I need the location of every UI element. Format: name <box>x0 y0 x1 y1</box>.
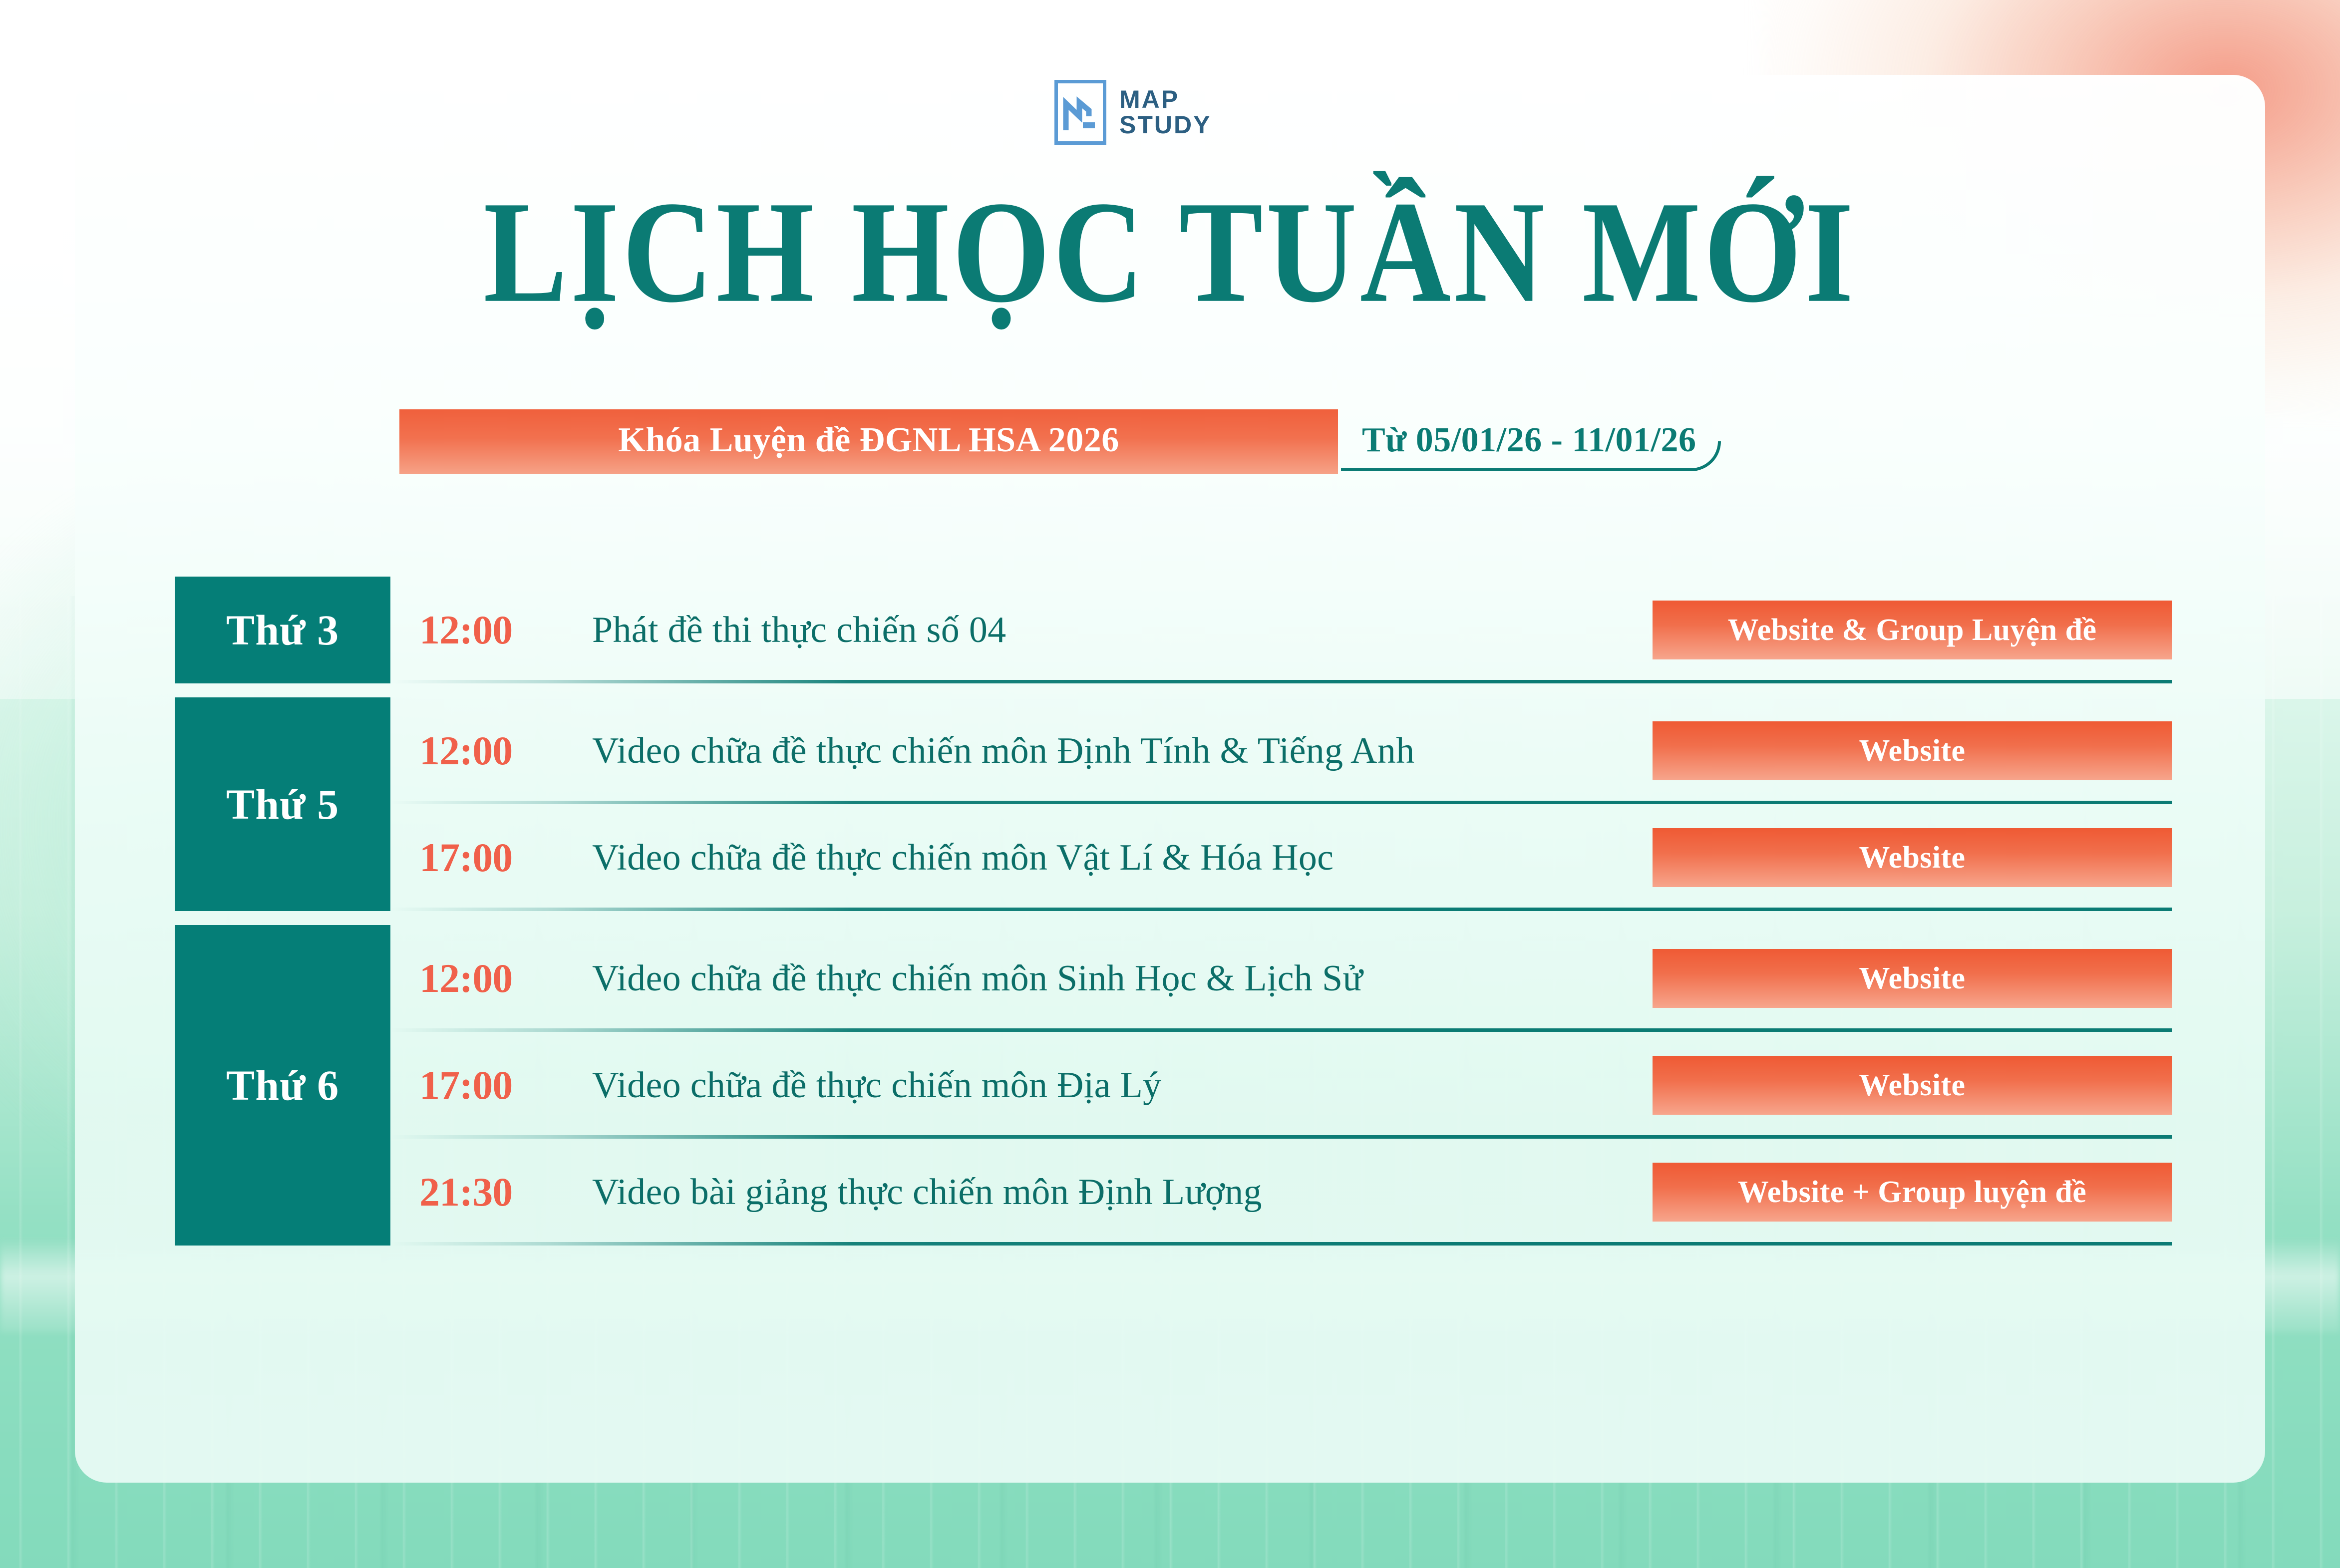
header-subrow: Khóa Luyện đề ĐGNL HSA 2026 Từ 05/01/26 … <box>399 409 1716 474</box>
date-range: Từ 05/01/26 - 11/01/26 <box>1362 420 1696 460</box>
row-rule <box>390 801 2172 804</box>
row-channel-tag[interactable]: Website + Group luyện đề <box>1653 1163 2172 1222</box>
course-badge: Khóa Luyện đề ĐGNL HSA 2026 <box>399 409 1338 474</box>
day-block: Thứ 312:00Phát đề thi thực chiến số 04We… <box>175 577 2172 683</box>
day-block: Thứ 512:00Video chữa đề thực chiến môn Đ… <box>175 697 2172 911</box>
schedule-row: 21:30Video bài giảng thực chiến môn Định… <box>390 1139 2172 1246</box>
row-time: 12:00 <box>419 955 569 1002</box>
row-time: 12:00 <box>419 607 569 653</box>
row-rule <box>390 680 2172 683</box>
row-rule <box>390 1028 2172 1032</box>
logo-line-study: STUDY <box>1119 112 1211 138</box>
day-badge: Thứ 3 <box>175 577 390 683</box>
day-badge: Thứ 6 <box>175 925 390 1246</box>
row-channel-tag[interactable]: Website <box>1653 949 2172 1008</box>
row-channel-tag[interactable]: Website <box>1653 721 2172 780</box>
row-channel-tag[interactable]: Website <box>1653 1056 2172 1115</box>
schedule-row: 17:00Video chữa đề thực chiến môn Địa Lý… <box>390 1032 2172 1139</box>
row-time: 17:00 <box>419 834 569 881</box>
row-title: Video chữa đề thực chiến môn Định Tính &… <box>592 730 1631 772</box>
row-time: 17:00 <box>419 1062 569 1109</box>
schedule-row: 12:00Video chữa đề thực chiến môn Định T… <box>390 697 2172 804</box>
schedule-row: 17:00Video chữa đề thực chiến môn Vật Lí… <box>390 804 2172 911</box>
row-channel-tag[interactable]: Website & Group Luyện đề <box>1653 601 2172 659</box>
schedule-row: 12:00Phát đề thi thực chiến số 04Website… <box>390 577 2172 683</box>
row-title: Phát đề thi thực chiến số 04 <box>592 609 1631 651</box>
day-rows: 12:00Video chữa đề thực chiến môn Sinh H… <box>390 925 2172 1246</box>
page-title: LỊCH HỌC TUẦN MỚI <box>0 179 2340 324</box>
day-badge: Thứ 5 <box>175 697 390 911</box>
row-title: Video chữa đề thực chiến môn Vật Lí & Hó… <box>592 837 1631 879</box>
row-time: 21:30 <box>419 1169 569 1216</box>
logo-line-map: MAP <box>1119 87 1211 112</box>
row-title: Video chữa đề thực chiến môn Sinh Học & … <box>592 957 1631 1000</box>
row-title: Video bài giảng thực chiến môn Định Lượn… <box>592 1171 1631 1214</box>
schedule-row: 12:00Video chữa đề thực chiến môn Sinh H… <box>390 925 2172 1032</box>
row-rule <box>390 1135 2172 1139</box>
row-rule <box>390 1242 2172 1246</box>
day-rows: 12:00Video chữa đề thực chiến môn Định T… <box>390 697 2172 911</box>
schedule-table: Thứ 312:00Phát đề thi thực chiến số 04We… <box>175 577 2172 1246</box>
row-time: 12:00 <box>419 727 569 774</box>
day-rows: 12:00Phát đề thi thực chiến số 04Website… <box>390 577 2172 683</box>
map-study-logo: MAP STUDY <box>1054 80 1211 145</box>
map-study-mark-icon <box>1054 80 1106 145</box>
day-block: Thứ 612:00Video chữa đề thực chiến môn S… <box>175 925 2172 1246</box>
row-title: Video chữa đề thực chiến môn Địa Lý <box>592 1064 1631 1107</box>
map-study-wordmark: MAP STUDY <box>1119 87 1211 138</box>
date-range-wrap: Từ 05/01/26 - 11/01/26 <box>1338 409 1716 474</box>
row-rule <box>390 908 2172 911</box>
row-channel-tag[interactable]: Website <box>1653 828 2172 887</box>
